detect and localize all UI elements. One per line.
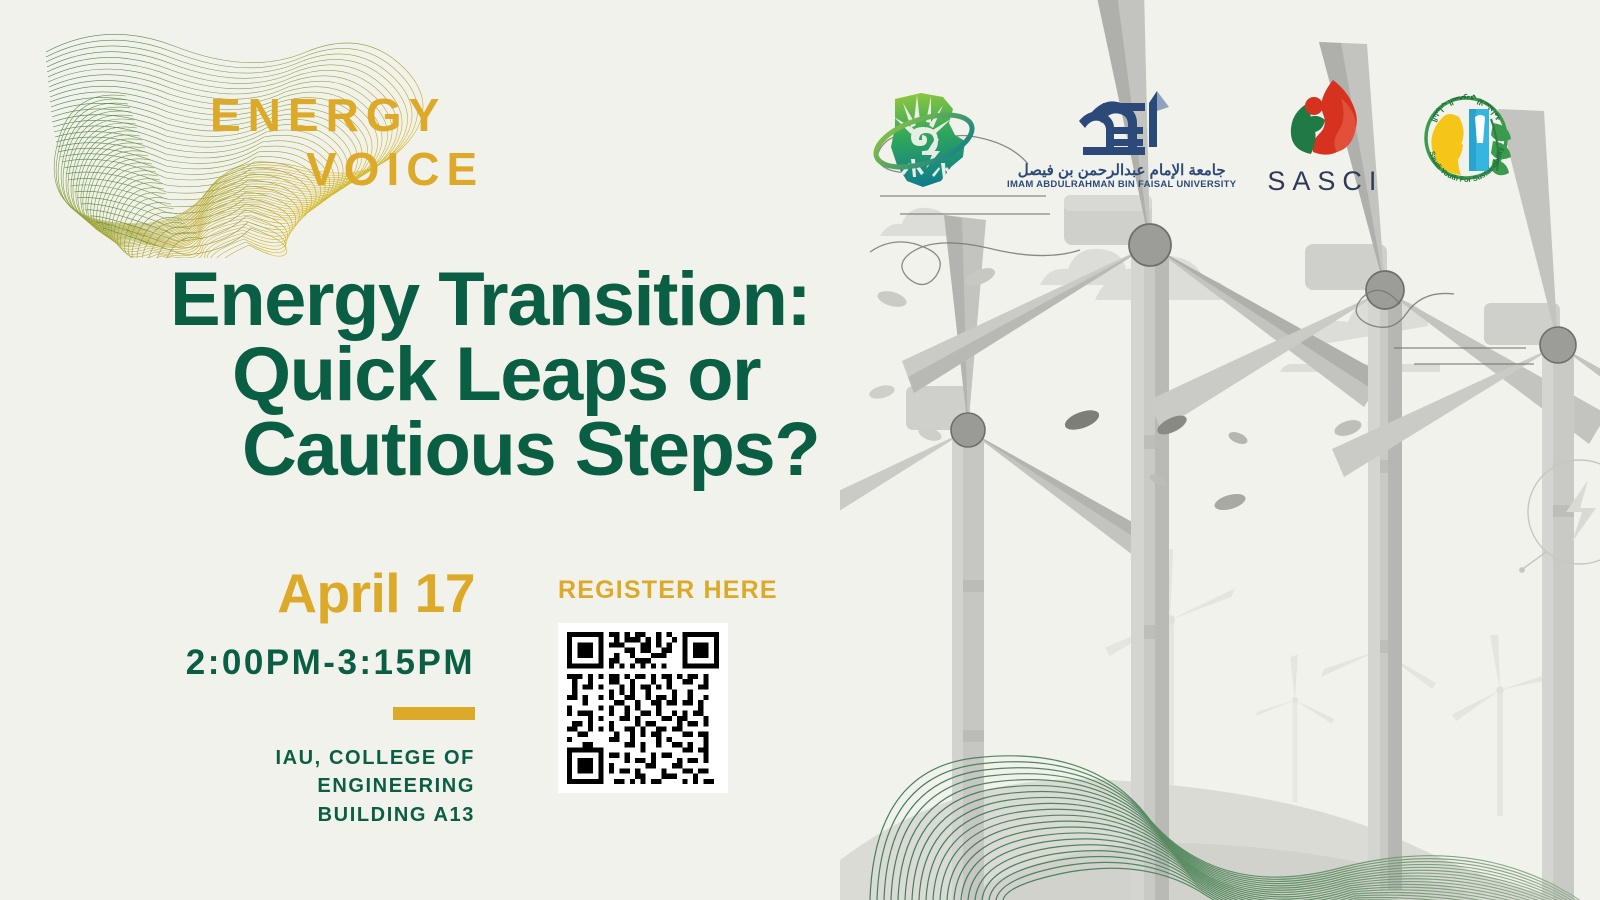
saudi-map-energy-icon <box>865 79 983 197</box>
iau-crest-icon <box>1061 85 1183 161</box>
event-date: April 17 <box>120 566 475 621</box>
registration-block[interactable]: REGISTER HERE <box>558 578 758 793</box>
event-time: 2:00PM-3:15PM <box>120 645 475 680</box>
event-venue: IAU, COLLEGE OF ENGINEERING BUILDING A13 <box>120 744 475 829</box>
headline-line-1: Energy Transition: <box>170 262 900 337</box>
headline-line-3: Cautious Steps? <box>242 412 900 487</box>
partner-sasci: SASCI <box>1260 78 1383 197</box>
event-details: April 17 2:00PM-3:15PM IAU, COLLEGE OF E… <box>120 566 475 829</box>
register-here-label: REGISTER HERE <box>558 578 758 603</box>
partner-saudi-energy-map <box>865 79 983 197</box>
venue-line-1: IAU, COLLEGE OF ENGINEERING <box>120 744 475 801</box>
event-poster: ENERGY VOICE <box>0 0 1600 900</box>
gold-divider <box>393 707 475 720</box>
qr-code[interactable] <box>558 623 728 793</box>
brand-logo: ENERGY VOICE <box>38 18 458 258</box>
iau-arabic-name: جامعة الإمام عبدالرحمن بن فيصل <box>1007 163 1236 179</box>
page-title: Energy Transition: Quick Leaps or Cautio… <box>170 262 900 488</box>
partner-saudi-youth: Saudi Youth For Sustainability الشباب ال… <box>1407 79 1525 197</box>
partner-iau: جامعة الإمام عبدالرحمن بن فيصل IMAM ABDU… <box>1007 85 1236 191</box>
brand-line-energy: ENERGY <box>210 92 446 138</box>
venue-line-2: BUILDING A13 <box>120 801 475 829</box>
brand-line-voice: VOICE <box>306 146 484 192</box>
sasci-wordmark: SASCI <box>1260 166 1383 197</box>
saudi-youth-sustainability-icon: Saudi Youth For Sustainability الشباب ال… <box>1407 79 1525 197</box>
sasci-flame-icon <box>1277 78 1367 162</box>
saudi-youth-arabic-text: الشباب السعودي للاستدامة <box>1430 92 1503 122</box>
headline-line-2: Quick Leaps or <box>232 337 900 412</box>
brand-wordmark: ENERGY VOICE <box>38 18 458 258</box>
background-turbines <box>1105 549 1550 817</box>
iau-english-name: IMAM ABDULRAHMAN BIN FAISAL UNIVERSITY <box>1007 180 1236 190</box>
qr-code-icon[interactable] <box>567 632 719 784</box>
partner-logo-row: جامعة الإمام عبدالرحمن بن فيصل IMAM ABDU… <box>865 78 1525 197</box>
